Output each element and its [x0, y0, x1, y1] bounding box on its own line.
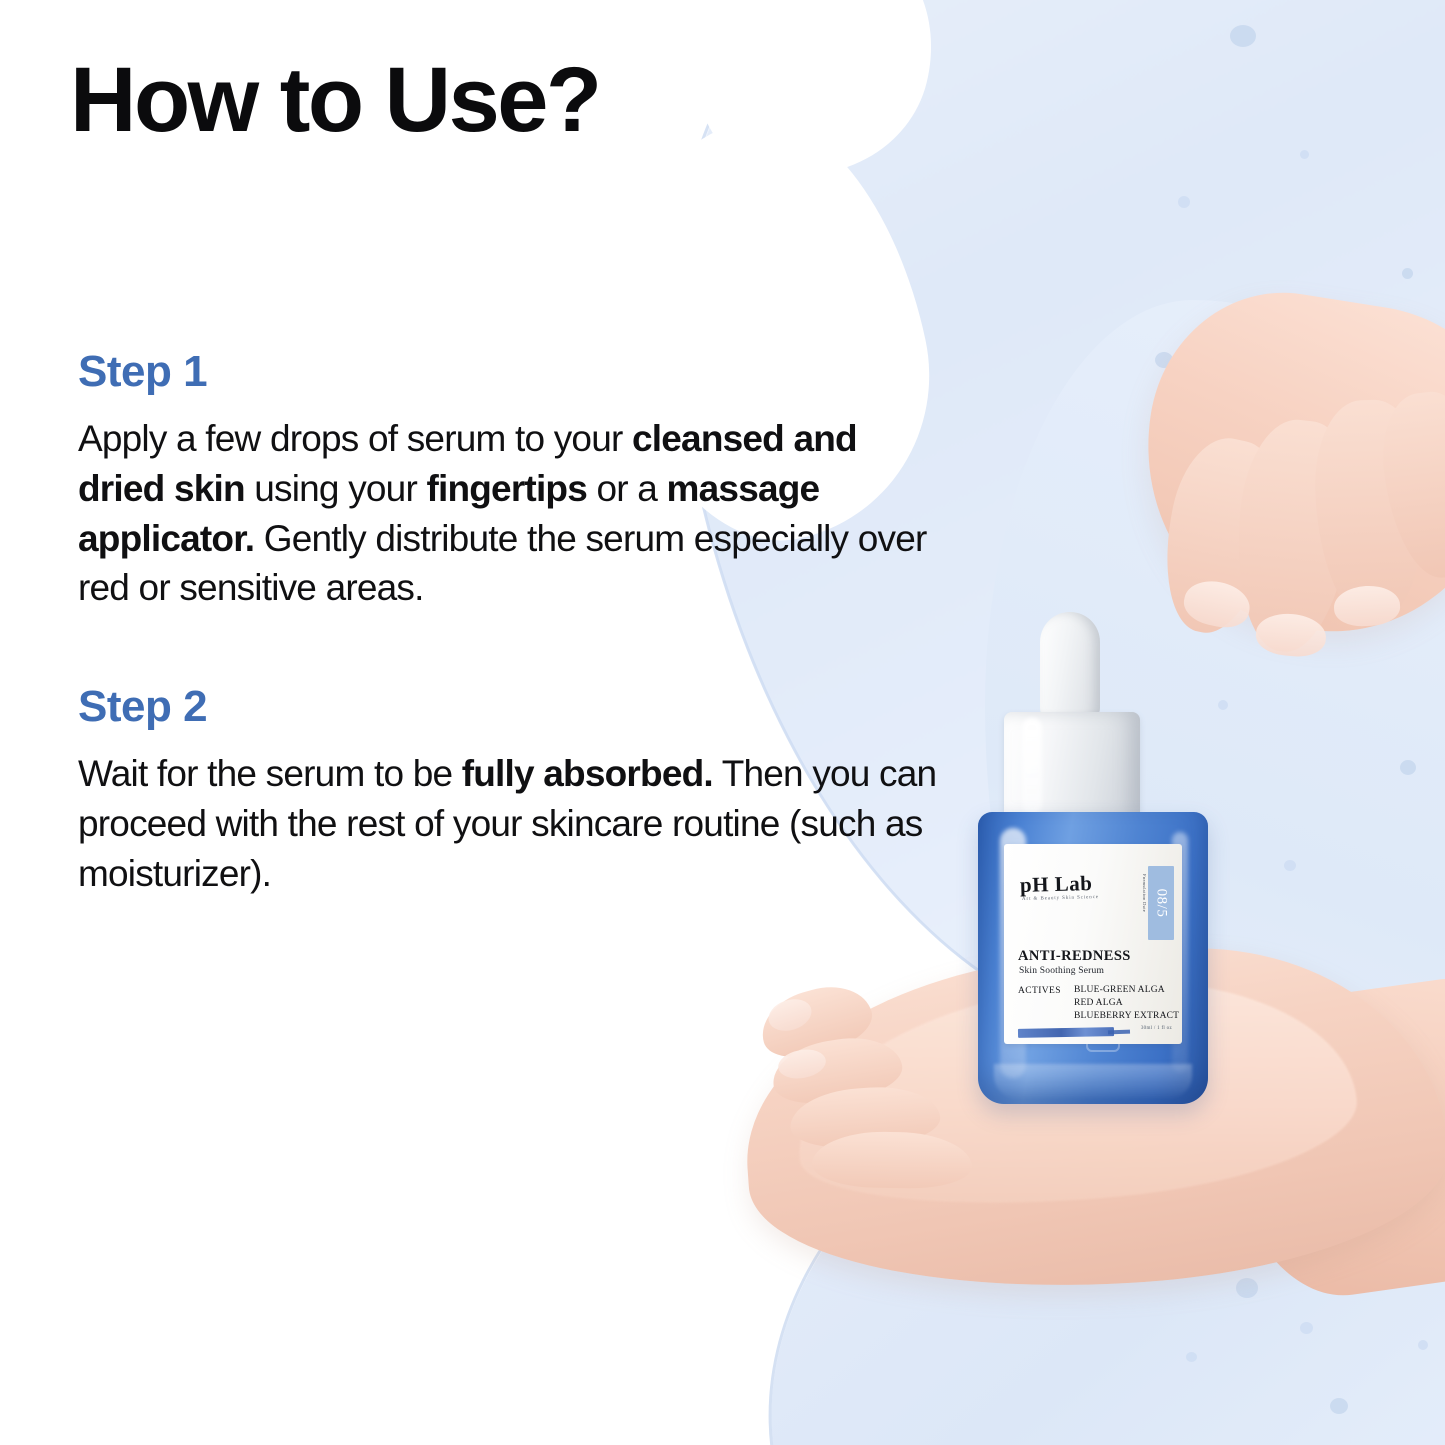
- active-ingredient: BLUE-GREEN ALGA: [1074, 984, 1179, 997]
- gel-bubble: [1402, 268, 1413, 279]
- gel-bubble: [1330, 1398, 1348, 1414]
- actives-list: BLUE-GREEN ALGA RED ALGA BLUEBERRY EXTRA…: [1074, 984, 1179, 1023]
- date-code-tab: 08/5: [1148, 866, 1174, 940]
- brand-name: pH Lab: [1020, 871, 1093, 898]
- gel-bubble: [1230, 25, 1256, 47]
- step-2-text-1: Wait for the serum to be: [78, 753, 462, 794]
- step-2-text-2: fully absorbed.: [462, 753, 713, 794]
- how-to-use-graphic: How to Use? Step 1 Apply a few drops of …: [0, 0, 1445, 1445]
- cap-highlight: [1022, 718, 1042, 814]
- step-1-text-3: using your: [245, 468, 427, 509]
- gel-bubble: [1300, 1322, 1313, 1334]
- step-2-body: Wait for the serum to be fully absorbed.…: [78, 749, 938, 898]
- volume-text: 30ml / 1 fl oz: [1141, 1026, 1172, 1031]
- step-1-heading: Step 1: [78, 348, 938, 396]
- page-title: How to Use?: [70, 52, 600, 149]
- product-label: pH Lab Art & Beauty Skin Science Formula…: [1004, 844, 1182, 1044]
- gel-bubble: [1400, 760, 1416, 775]
- product-subtitle: Skin Soothing Serum: [1019, 966, 1104, 976]
- gel-bubble: [1300, 150, 1309, 159]
- step-2-block: Step 2 Wait for the serum to be fully ab…: [78, 683, 938, 898]
- gel-bubble: [1186, 1352, 1197, 1362]
- gel-notch-upper: [673, 0, 957, 204]
- step-1-text-4: fingertips: [426, 468, 587, 509]
- date-code-value: 08/5: [1153, 889, 1170, 918]
- gel-bubble: [1284, 860, 1296, 871]
- signature-stamp: [1018, 1027, 1114, 1038]
- signature-stamp-tail: [1108, 1030, 1130, 1035]
- gel-bubble: [1418, 1340, 1428, 1350]
- step-1-text-1: Apply a few drops of serum to your: [78, 418, 632, 459]
- step-1-text-5: or a: [587, 468, 667, 509]
- actives-label: ACTIVES: [1018, 986, 1061, 996]
- active-ingredient: BLUEBERRY EXTRACT: [1074, 1010, 1179, 1023]
- step-1-block: Step 1 Apply a few drops of serum to you…: [78, 348, 938, 613]
- glass-base-shine: [994, 1064, 1192, 1098]
- brand-tagline: Art & Beauty Skin Science: [1022, 895, 1099, 902]
- serum-bottle: pH Lab Art & Beauty Skin Science Formula…: [978, 612, 1208, 1104]
- date-caption: Formulation Date: [1142, 874, 1147, 912]
- step-2-heading: Step 2: [78, 683, 938, 731]
- dropper-bulb: [1040, 612, 1100, 722]
- gel-bubble: [1236, 1278, 1258, 1298]
- product-name: ANTI-REDNESS: [1018, 948, 1131, 965]
- gel-bubble: [1178, 196, 1190, 208]
- step-1-body: Apply a few drops of serum to your clean…: [78, 414, 938, 612]
- gel-bubble: [1218, 700, 1228, 710]
- active-ingredient: RED ALGA: [1074, 997, 1179, 1010]
